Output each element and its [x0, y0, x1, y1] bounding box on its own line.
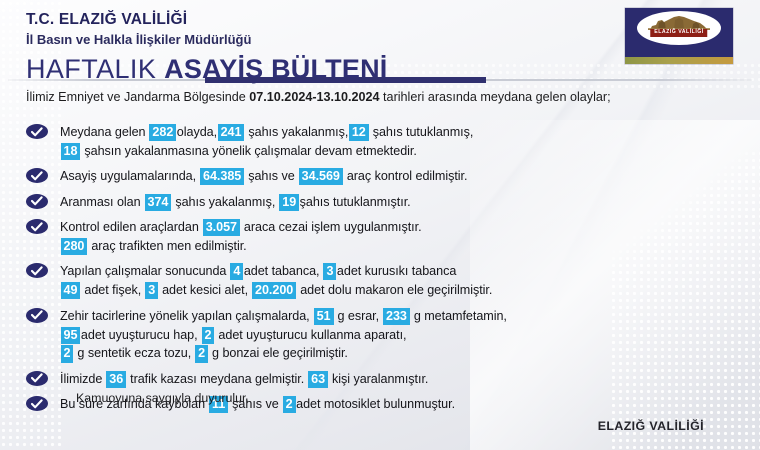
highlighted-statistic: 2 [195, 345, 208, 362]
check-bullet-icon [26, 168, 48, 183]
item-text-segment: araç trafikten men edilmiştir. [88, 239, 247, 253]
item-text-segment: g esrar, [334, 309, 383, 323]
highlighted-statistic: 280 [61, 238, 88, 255]
bulletin-poster: T.C. ELAZIĞ VALİLİĞİ İl Basın ve Halkla … [0, 0, 760, 450]
logo-emblem: ELAZIĞ VALİLİĞİ [636, 10, 722, 46]
list-item: Yapılan çalışmalar sonucunda 4adet taban… [26, 262, 742, 300]
check-icon [31, 310, 43, 320]
item-text-segment: trafik kazası meydana gelmiştir. [127, 372, 308, 386]
intro-paragraph: İlimiz Emniyet ve Jandarma Bölgesinde 07… [26, 88, 738, 106]
check-bullet-icon [26, 263, 48, 278]
check-bullet-icon [26, 371, 48, 386]
highlighted-statistic: 2 [61, 345, 74, 362]
item-text-segment: araca cezai işlem uygulanmıştır. [240, 220, 421, 234]
highlighted-statistic: 3 [323, 263, 336, 280]
highlighted-statistic: 12 [349, 124, 369, 141]
check-bullet-icon [26, 194, 48, 209]
list-item: Aranması olan 374 şahıs yakalanmış, 19şa… [26, 193, 742, 212]
highlighted-statistic: 20.200 [252, 282, 296, 299]
list-item-text: Yapılan çalışmalar sonucunda 4adet taban… [60, 262, 492, 300]
list-item: İlimizde 36 trafik kazası meydana gelmiş… [26, 370, 742, 389]
item-text-segment: g sentetik ecza tozu, [74, 346, 195, 360]
item-text-segment: adet kesici alet, [159, 283, 252, 297]
item-text-segment: Zehir tacirlerine yönelik yapılan çalışm… [60, 309, 313, 323]
highlighted-statistic: 36 [106, 371, 126, 388]
castle-icon [648, 15, 710, 30]
item-text-segment: adet kurusıkı tabanca [337, 264, 456, 278]
header-block: T.C. ELAZIĞ VALİLİĞİ İl Basın ve Halkla … [26, 10, 586, 83]
highlighted-statistic: 3 [145, 282, 158, 299]
item-text-segment: adet fişek, [81, 283, 145, 297]
item-text-segment: şahıs ve [245, 169, 298, 183]
item-text-segment: şahıs yakalanmış, [172, 195, 279, 209]
item-text-segment: Aranması olan [60, 195, 144, 209]
highlighted-statistic: 64.385 [200, 168, 244, 185]
highlighted-statistic: 19 [279, 194, 299, 211]
check-icon [31, 127, 43, 137]
highlighted-statistic: 3.057 [203, 219, 240, 236]
item-text-segment: Asayiş uygulamalarında, [60, 169, 200, 183]
item-text-segment: g metamfetamin, [410, 309, 507, 323]
list-item: Zehir tacirlerine yönelik yapılan çalışm… [26, 307, 742, 364]
item-text-segment: olayda, [177, 125, 217, 139]
highlighted-statistic: 2 [202, 327, 215, 344]
intro-text-before: İlimiz Emniyet ve Jandarma Bölgesinde [26, 90, 249, 104]
bulletin-item-list: Meydana gelen 282olayda,241 şahıs yakala… [26, 123, 742, 421]
item-text-segment: Yapılan çalışmalar sonucunda [60, 264, 230, 278]
list-item-text: İlimizde 36 trafik kazası meydana gelmiş… [60, 370, 428, 389]
highlighted-statistic: 51 [314, 308, 334, 325]
check-bullet-icon [26, 219, 48, 234]
organization-name: T.C. ELAZIĞ VALİLİĞİ [26, 10, 586, 29]
item-text-segment: şahıs tutuklanmış, [369, 125, 473, 139]
highlighted-statistic: 18 [61, 143, 81, 160]
list-item-text: Asayiş uygulamalarında, 64.385 şahıs ve … [60, 167, 467, 186]
list-item-text: Aranması olan 374 şahıs yakalanmış, 19şa… [60, 193, 411, 212]
highlighted-statistic: 49 [61, 282, 81, 299]
check-icon [31, 196, 43, 206]
footer-signature: ELAZIĞ VALİLİĞİ [598, 419, 704, 433]
item-text-segment: İlimizde [60, 372, 106, 386]
item-text-segment: şahsın yakalanmasına yönelik çalışmalar … [81, 144, 417, 158]
check-icon [31, 266, 43, 276]
highlighted-statistic: 34.569 [299, 168, 343, 185]
highlighted-statistic: 233 [383, 308, 410, 325]
intro-text-after: tarihleri arasında meydana gelen olaylar… [380, 90, 611, 104]
item-text-segment: adet uyuşturucu kullanma aparatı, [215, 328, 407, 342]
footer-note: Kamuoyuna saygıyla duyurulur. [76, 391, 249, 405]
list-item: Kontrol edilen araçlardan 3.057 araca ce… [26, 218, 742, 256]
list-item-text: Meydana gelen 282olayda,241 şahıs yakala… [60, 123, 473, 161]
item-text-segment: Kontrol edilen araçlardan [60, 220, 202, 234]
highlighted-statistic: 282 [149, 124, 176, 141]
governorship-logo: ELAZIĞ VALİLİĞİ [625, 8, 733, 64]
check-icon [31, 399, 43, 409]
divider-accent-bar [205, 77, 486, 84]
check-icon [31, 373, 43, 383]
item-text-segment: Meydana gelen [60, 125, 149, 139]
highlighted-statistic: 4 [230, 263, 243, 280]
highlighted-statistic: 241 [218, 124, 245, 141]
list-item-text: Kontrol edilen araçlardan 3.057 araca ce… [60, 218, 422, 256]
item-text-segment: g bonzai ele geçirilmiştir. [209, 346, 348, 360]
check-icon [31, 171, 43, 181]
highlighted-statistic: 63 [308, 371, 328, 388]
check-bullet-icon [26, 308, 48, 323]
list-item: Asayiş uygulamalarında, 64.385 şahıs ve … [26, 167, 742, 186]
check-bullet-icon [26, 396, 48, 411]
list-item: Meydana gelen 282olayda,241 şahıs yakala… [26, 123, 742, 161]
list-item-text: Zehir tacirlerine yönelik yapılan çalışm… [60, 307, 507, 364]
item-text-segment: şahıs yakalanmış, [245, 125, 348, 139]
highlighted-statistic: 2 [283, 396, 296, 413]
check-icon [31, 222, 43, 232]
item-text-segment: adet tabanca, [244, 264, 323, 278]
item-text-segment: kişi yaralanmıştır. [329, 372, 429, 386]
item-text-segment: şahıs tutuklanmıştır. [300, 195, 411, 209]
item-text-segment: araç kontrol edilmiştir. [343, 169, 467, 183]
highlighted-statistic: 95 [61, 327, 81, 344]
logo-gold-bar [625, 57, 733, 64]
logo-label: ELAZIĞ VALİLİĞİ [650, 29, 707, 37]
highlighted-statistic: 374 [145, 194, 172, 211]
intro-date-range: 07.10.2024-13.10.2024 [249, 90, 379, 104]
check-bullet-icon [26, 124, 48, 139]
item-text-segment: adet dolu makaron ele geçirilmiştir. [297, 283, 493, 297]
item-text-segment: adet motosiklet bulunmuştur. [296, 397, 455, 411]
department-name: İl Basın ve Halkla İlişkiler Müdürlüğü [26, 32, 586, 48]
item-text-segment: adet uyuşturucu hap, [81, 328, 201, 342]
